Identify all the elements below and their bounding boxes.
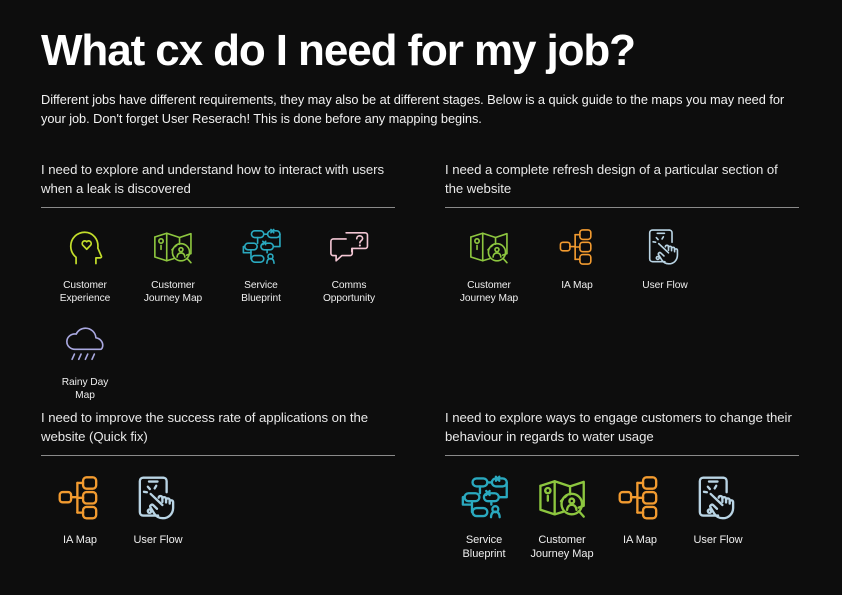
icon-row: Service BlueprintCustomer Journey MapIA … [445, 472, 799, 577]
header: What cx do I need for my job? Different … [41, 26, 801, 128]
icon-label: Customer Journey Map [530, 533, 593, 561]
hierarchy-tree-icon [618, 472, 661, 524]
icon-label: User Flow [693, 533, 742, 547]
block-heading: I need to explore and understand how to … [41, 160, 395, 198]
block-leak-discovery: I need to explore and understand how to … [41, 160, 395, 418]
icon-cell-rainy-day-map[interactable]: Rainy Day Map [41, 321, 129, 402]
block-application-success: I need to improve the success rate of ap… [41, 408, 395, 563]
icon-cell-customer-journey-map[interactable]: Customer Journey Map [445, 224, 533, 305]
speech-bubbles-question-icon [329, 224, 369, 270]
icon-cell-ia-map[interactable]: IA Map [533, 224, 621, 305]
head-heart-icon [66, 224, 104, 270]
block-water-usage-behaviour: I need to explore ways to engage custome… [445, 408, 799, 577]
icon-cell-comms-opportunity[interactable]: Comms Opportunity [305, 224, 393, 305]
poster-content: What cx do I need for my job? Different … [16, 0, 826, 595]
icon-cell-ia-map[interactable]: IA Map [601, 472, 679, 561]
block-divider [41, 455, 395, 456]
icon-label: IA Map [561, 279, 592, 292]
icon-cell-ia-map[interactable]: IA Map [41, 472, 119, 547]
icon-label: User Flow [133, 533, 182, 547]
icon-label: Comms Opportunity [323, 279, 375, 305]
icon-label: IA Map [623, 533, 657, 547]
page-subtitle: Different jobs have different requiremen… [41, 90, 793, 128]
icon-row: IA MapUser Flow [41, 472, 395, 563]
block-heading: I need to improve the success rate of ap… [41, 408, 395, 446]
block-heading: I need to explore ways to engage custome… [445, 408, 799, 446]
block-divider [41, 207, 395, 208]
phone-tap-icon [693, 472, 743, 524]
icon-label: Rainy Day Map [62, 376, 109, 402]
icon-label: Service Blueprint [241, 279, 281, 305]
block-divider [445, 455, 799, 456]
icon-label: Service Blueprint [463, 533, 506, 561]
page-title: What cx do I need for my job? [41, 26, 801, 76]
icon-row: Customer Journey MapIA MapUser Flow [445, 224, 799, 321]
rain-cloud-icon [64, 321, 106, 367]
block-divider [445, 207, 799, 208]
map-magnifier-icon [152, 224, 194, 270]
icon-label: IA Map [63, 533, 97, 547]
phone-tap-icon [644, 224, 686, 270]
icon-label: User Flow [642, 279, 687, 292]
icon-label: Customer Journey Map [460, 279, 518, 305]
icon-cell-service-blueprint[interactable]: Service Blueprint [445, 472, 523, 561]
hierarchy-tree-icon [58, 472, 101, 524]
blueprint-nodes-icon [241, 224, 281, 270]
block-refresh-design: I need a complete refresh design of a pa… [445, 160, 799, 321]
icon-cell-customer-experience[interactable]: Customer Experience [41, 224, 129, 305]
block-heading: I need a complete refresh design of a pa… [445, 160, 799, 198]
icon-row: Customer ExperienceCustomer Journey MapS… [41, 224, 395, 418]
poster-page: What cx do I need for my job? Different … [0, 0, 842, 595]
icon-cell-customer-journey-map[interactable]: Customer Journey Map [523, 472, 601, 561]
icon-cell-user-flow[interactable]: User Flow [119, 472, 197, 547]
phone-tap-icon [133, 472, 183, 524]
icon-cell-user-flow[interactable]: User Flow [679, 472, 757, 561]
icon-cell-customer-journey-map[interactable]: Customer Journey Map [129, 224, 217, 305]
icon-label: Customer Journey Map [144, 279, 202, 305]
hierarchy-tree-icon [559, 224, 595, 270]
icon-cell-service-blueprint[interactable]: Service Blueprint [217, 224, 305, 305]
icon-label: Customer Experience [60, 279, 110, 305]
blueprint-nodes-icon [460, 472, 508, 524]
map-magnifier-icon [537, 472, 587, 524]
map-magnifier-icon [468, 224, 510, 270]
icon-cell-user-flow[interactable]: User Flow [621, 224, 709, 305]
